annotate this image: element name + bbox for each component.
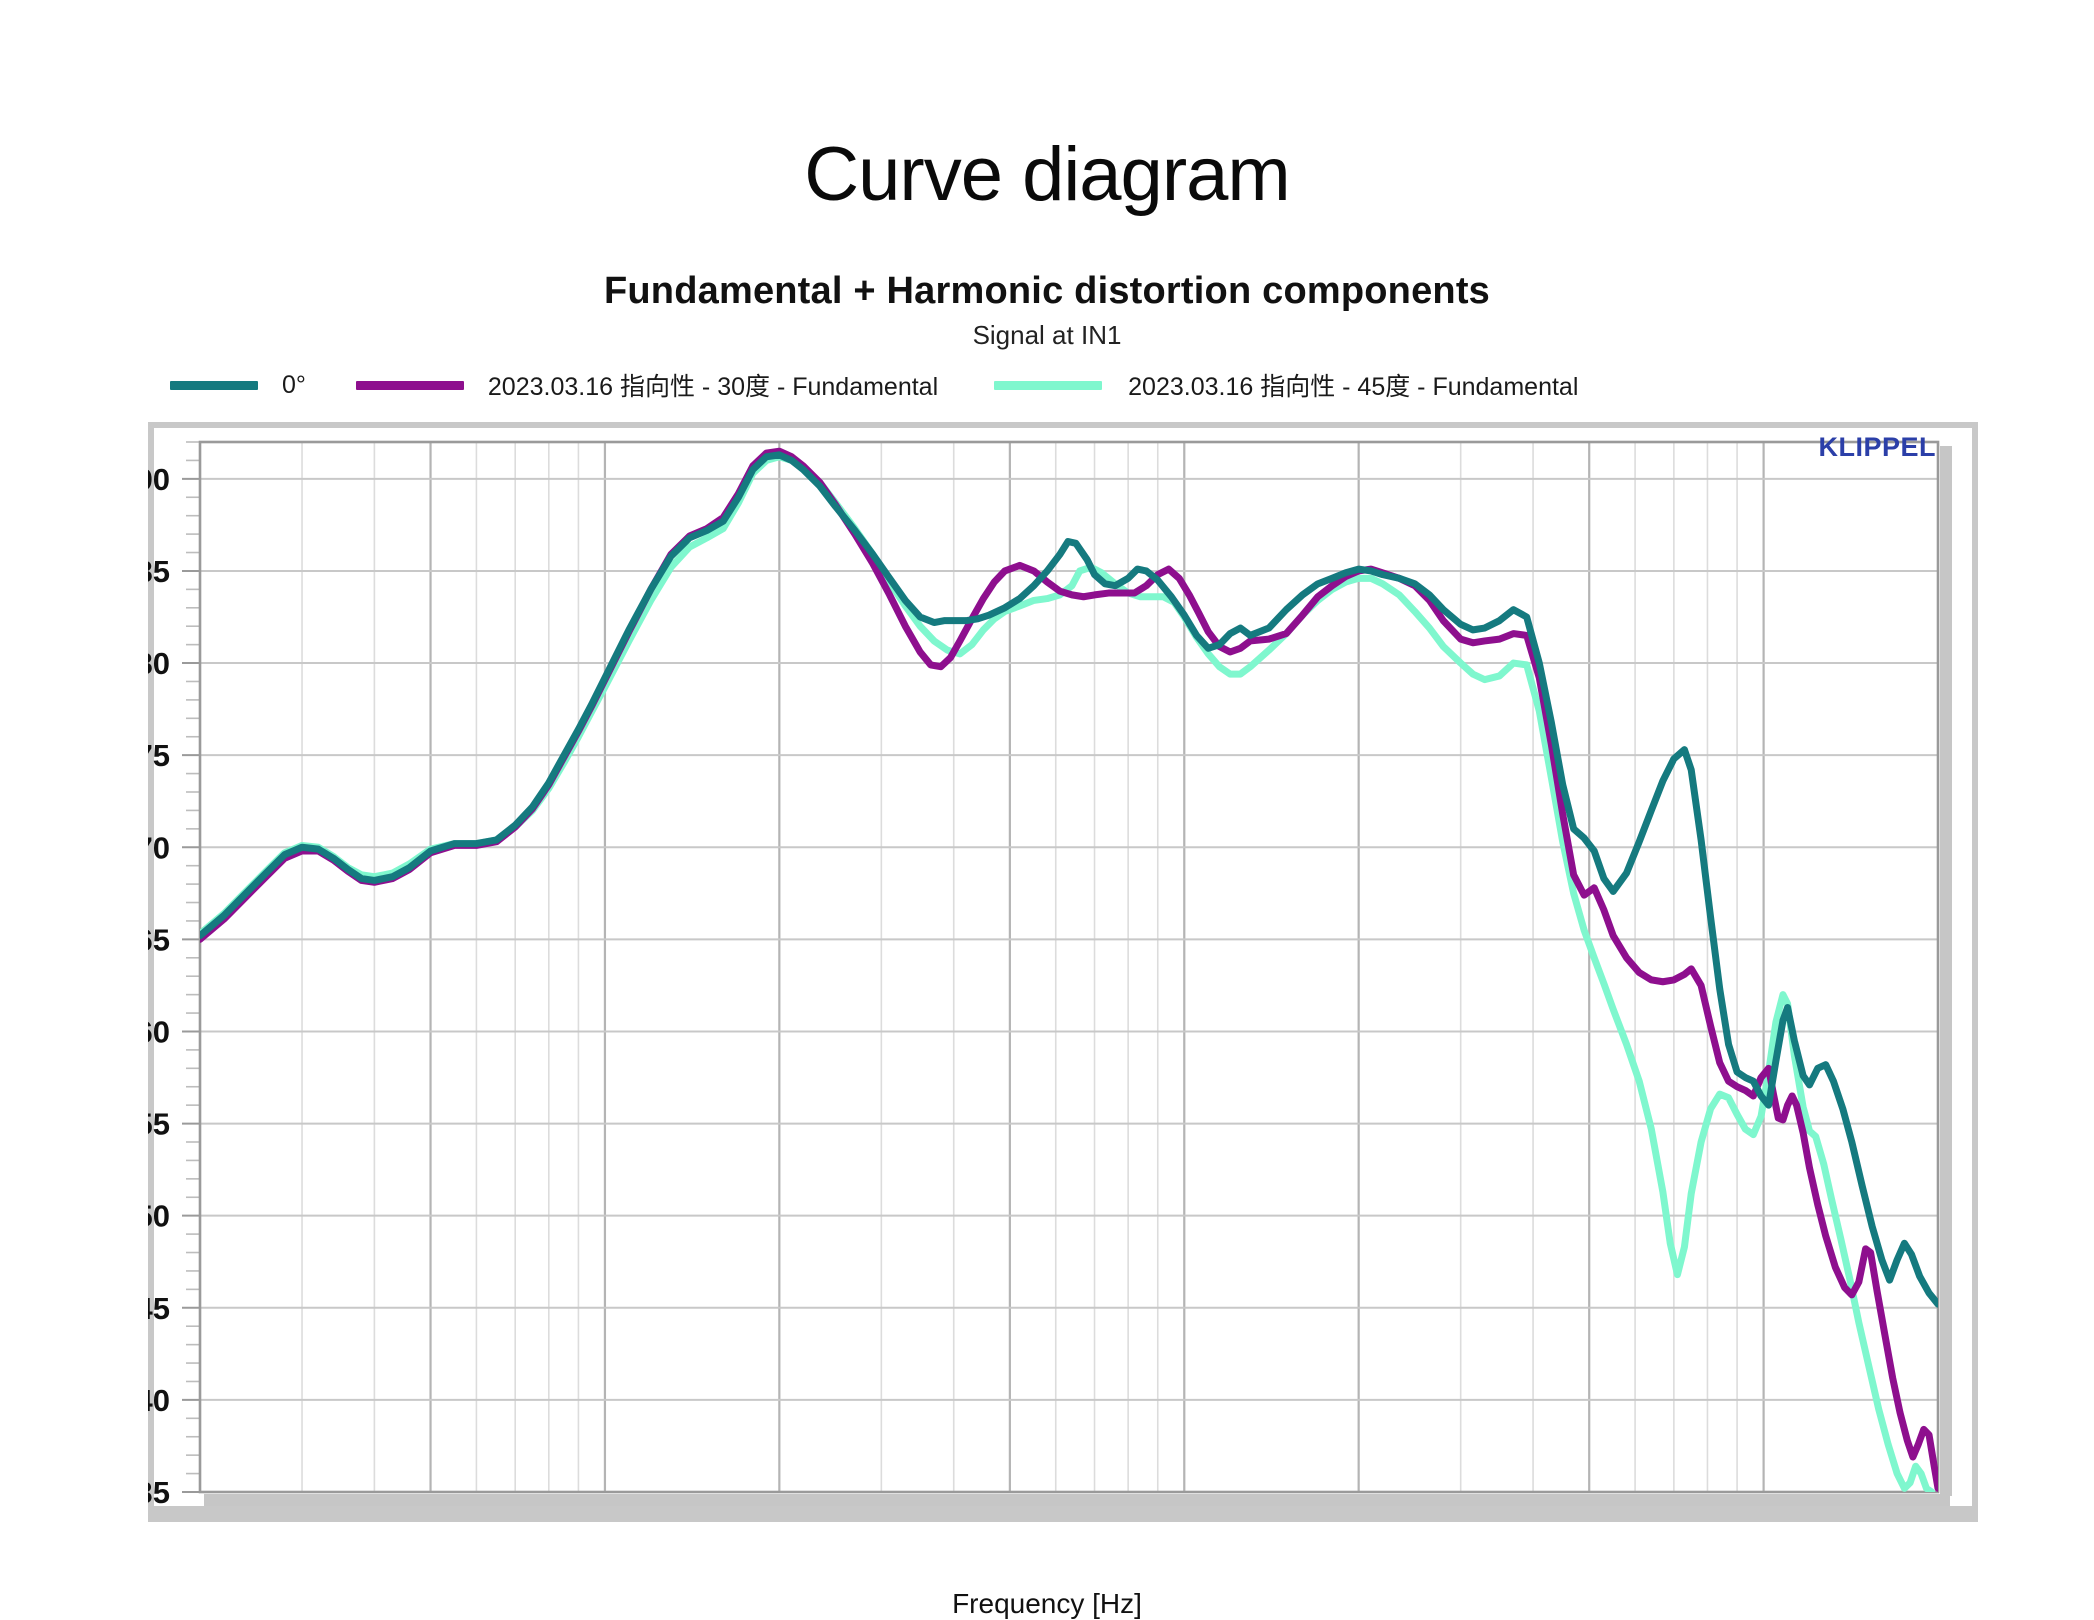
svg-text:85: 85 bbox=[148, 554, 170, 589]
svg-text:60: 60 bbox=[148, 1014, 170, 1049]
plot-area: 35404550556065707580859020501002005001k2… bbox=[148, 422, 1978, 1522]
svg-text:45: 45 bbox=[148, 1291, 170, 1326]
svg-text:65: 65 bbox=[148, 922, 170, 957]
legend-swatch-0deg bbox=[170, 381, 258, 390]
legend-swatch-30deg bbox=[356, 381, 464, 390]
chart-title: Fundamental + Harmonic distortion compon… bbox=[0, 270, 2094, 313]
legend-label-30deg: 2023.03.16 指向性 - 30度 - Fundamental bbox=[488, 367, 938, 403]
slide-root: Curve diagram Fundamental + Harmonic dis… bbox=[0, 0, 2094, 1562]
legend-item-30deg[interactable]: 2023.03.16 指向性 - 30度 - Fundamental bbox=[356, 367, 938, 403]
legend-item-0deg[interactable]: 0° bbox=[170, 371, 306, 400]
svg-text:55: 55 bbox=[148, 1107, 170, 1142]
svg-text:40: 40 bbox=[148, 1383, 170, 1418]
legend-swatch-45deg bbox=[994, 381, 1102, 390]
legend-label-45deg: 2023.03.16 指向性 - 45度 - Fundamental bbox=[1128, 367, 1578, 403]
legend-item-45deg[interactable]: 2023.03.16 指向性 - 45度 - Fundamental bbox=[994, 367, 1578, 403]
svg-text:80: 80 bbox=[148, 646, 170, 681]
legend-label-0deg: 0° bbox=[282, 371, 306, 400]
svg-text:50: 50 bbox=[148, 1199, 170, 1234]
klippel-watermark: KLIPPEL bbox=[1818, 432, 1936, 463]
chart-subtitle: Signal at IN1 bbox=[0, 320, 2094, 351]
page-title: Curve diagram bbox=[0, 135, 2094, 215]
svg-text:70: 70 bbox=[148, 830, 170, 865]
svg-text:90: 90 bbox=[148, 462, 170, 497]
svg-text:75: 75 bbox=[148, 738, 170, 773]
chart-container: Fundamental + Harmonic distortion compon… bbox=[0, 270, 2094, 1400]
svg-text:35: 35 bbox=[148, 1475, 170, 1510]
plot-svg: 35404550556065707580859020501002005001k2… bbox=[148, 422, 1978, 1522]
chart-legend: 0° 2023.03.16 指向性 - 30度 - Fundamental 20… bbox=[170, 368, 1970, 402]
x-axis-title: Frequency [Hz] bbox=[0, 1588, 2094, 1620]
